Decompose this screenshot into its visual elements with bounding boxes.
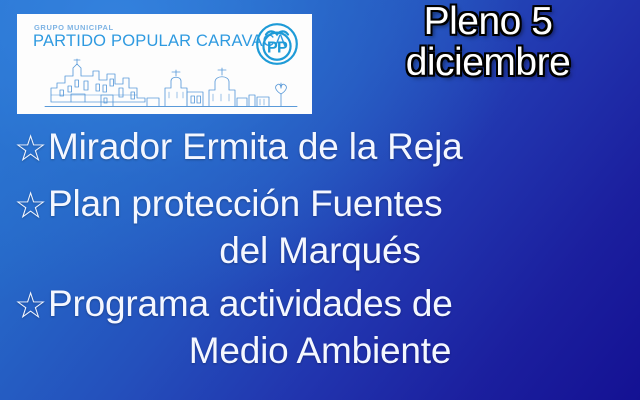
agenda-item-text: Programa actividades de — [48, 283, 453, 324]
agenda-list: ☆Mirador Ermita de la Reja ☆Plan protecc… — [0, 128, 640, 369]
agenda-item: ☆Plan protección Fuentes del Marqués — [0, 185, 640, 269]
star-bullet-icon: ☆ — [14, 287, 47, 324]
party-name-label: PARTIDO POPULAR CARAVACA — [33, 32, 286, 51]
agenda-item-line: ☆Programa actividades de — [0, 285, 640, 324]
agenda-item: ☆Programa actividades de Medio Ambiente — [0, 285, 640, 369]
agenda-item-line-continued: Medio Ambiente — [0, 332, 640, 369]
grupo-municipal-label: GRUPO MUNICIPAL — [34, 23, 114, 32]
poster-headline: Pleno 5 diciembre — [340, 3, 636, 82]
star-bullet-icon: ☆ — [14, 187, 47, 224]
agenda-item-line-continued: del Marqués — [0, 232, 640, 269]
agenda-item: ☆Mirador Ermita de la Reja — [0, 128, 640, 167]
agenda-item-line: ☆Plan protección Fuentes — [0, 185, 640, 224]
agenda-item-text: Mirador Ermita de la Reja — [48, 126, 462, 167]
headline-line-2: diciembre — [340, 44, 636, 83]
agenda-item-text: Plan protección Fuentes — [48, 183, 442, 224]
poster-canvas: GRUPO MUNICIPAL PARTIDO POPULAR CARAVACA… — [0, 0, 640, 400]
party-logo-card: GRUPO MUNICIPAL PARTIDO POPULAR CARAVACA… — [17, 14, 312, 114]
star-bullet-icon: ☆ — [14, 130, 47, 167]
headline-line-1: Pleno 5 — [340, 3, 636, 42]
agenda-item-line: ☆Mirador Ermita de la Reja — [0, 128, 640, 167]
caravaca-skyline-icon — [41, 54, 301, 112]
